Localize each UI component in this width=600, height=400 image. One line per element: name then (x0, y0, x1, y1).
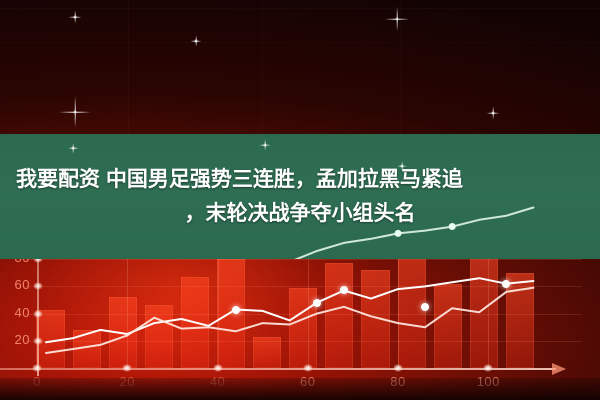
y-axis-tick-dot (33, 310, 43, 318)
y-axis-tick-label: 40 (15, 305, 30, 320)
bottom-vignette (0, 378, 600, 400)
x-axis-tick-dot (32, 364, 42, 372)
data-point-marker (421, 303, 429, 311)
y-axis-tick-label: 20 (15, 332, 30, 347)
arrow-right-icon (552, 363, 566, 375)
y-axis-tick-label: 60 (15, 277, 30, 292)
data-point-marker (313, 299, 321, 307)
headline-line-2: ，末轮决战争夺小组头名 (16, 197, 584, 231)
headline-line-1: 我要配资 中国男足强势三连胜，孟加拉黑马紧追 (16, 163, 584, 197)
page-title: 我要配资 中国男足强势三连胜，孟加拉黑马紧追 ，末轮决战争夺小组头名 (0, 134, 600, 259)
x-axis-tick-dot (213, 364, 223, 372)
x-axis-tick-dot (393, 364, 403, 372)
screenshot-root: 20406080100 020406080100 我要配资 中国男足强势三连胜，… (0, 0, 600, 400)
background-streaks (0, 0, 600, 150)
x-axis-tick-dot (303, 364, 313, 372)
data-point-marker (502, 280, 510, 288)
data-point-marker (232, 306, 240, 314)
y-axis-tick-dot (33, 337, 43, 345)
x-axis-line (0, 368, 556, 370)
